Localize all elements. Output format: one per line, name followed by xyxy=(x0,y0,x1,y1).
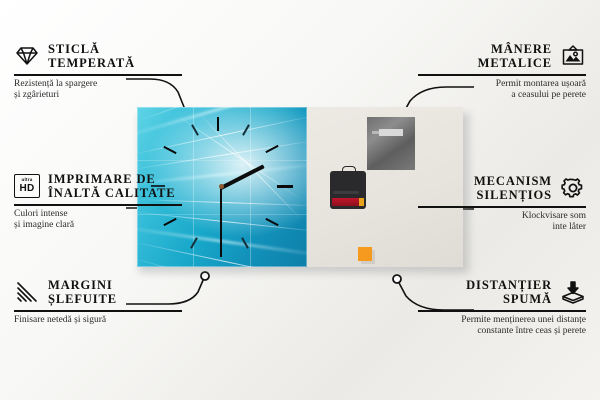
callout-divider xyxy=(418,310,586,312)
callout-title: DISTANȚIER SPUMĂ xyxy=(466,278,552,306)
callout-title: MECANISM SILENȚIOS xyxy=(474,174,552,202)
callout-description: Finisare netedă și sigură xyxy=(14,315,182,327)
callout-divider xyxy=(418,74,586,76)
foam-spacer-icon xyxy=(560,279,586,305)
callout-polished-edges: MARGINI ȘLEFUITE Finisare netedă și sigu… xyxy=(14,278,182,326)
callout-title: STICLĂ TEMPERATĂ xyxy=(48,42,135,70)
callout-description: Permit montarea ușoară a ceasului pe per… xyxy=(418,79,586,102)
battery xyxy=(332,198,364,206)
callout-title: IMPRIMARE DE ÎNALTĂ CALITATE xyxy=(48,172,176,200)
callout-description: Culori intense și imagine clară xyxy=(14,209,182,232)
leader-dot-foam-spacer xyxy=(393,275,401,283)
polished-edges-icon xyxy=(14,279,40,305)
leader-dot-polished-edges xyxy=(201,272,209,280)
product-feature-infographic: STICLĂ TEMPERATĂ Rezistență la spargere … xyxy=(0,0,600,400)
movement-hook xyxy=(342,166,356,173)
clock-movement xyxy=(330,171,366,209)
ultra-hd-badge-icon: ultra HD xyxy=(14,173,40,199)
callout-silent-mechanism: MECANISM SILENȚIOS Klockvisare som inte … xyxy=(418,174,586,234)
movement-detail xyxy=(333,191,359,194)
gear-icon xyxy=(560,175,586,201)
callout-divider xyxy=(14,310,182,312)
callout-metal-handles: MÂNERE METALICE Permit montarea ușoară a… xyxy=(418,42,586,102)
diamond-icon xyxy=(14,43,40,69)
callout-divider xyxy=(14,204,182,206)
callout-description: Rezistență la spargere și zgârieturi xyxy=(14,79,182,102)
metal-hanger-plate xyxy=(367,117,415,170)
callout-divider xyxy=(418,206,586,208)
callout-foam-spacer: DISTANȚIER SPUMĂ Permite menținerea unei… xyxy=(418,278,586,338)
foam-spacer-pad xyxy=(358,247,372,261)
hanger-slot xyxy=(379,129,403,136)
callout-high-quality-print: ultra HD IMPRIMARE DE ÎNALTĂ CALITATE Cu… xyxy=(14,172,182,232)
callout-tempered-glass: STICLĂ TEMPERATĂ Rezistență la spargere … xyxy=(14,42,182,102)
battery-tip xyxy=(359,198,364,206)
callout-title: MÂNERE METALICE xyxy=(478,42,552,70)
product-photo xyxy=(137,107,463,267)
callout-title: MARGINI ȘLEFUITE xyxy=(48,278,117,306)
callout-description: Permite menținerea unei distanțe constan… xyxy=(418,315,586,338)
ultra-hd-main-label: HD xyxy=(19,184,34,194)
callout-divider xyxy=(14,74,182,76)
callout-description: Klockvisare som inte låter xyxy=(418,211,586,234)
picture-frame-icon xyxy=(560,43,586,69)
